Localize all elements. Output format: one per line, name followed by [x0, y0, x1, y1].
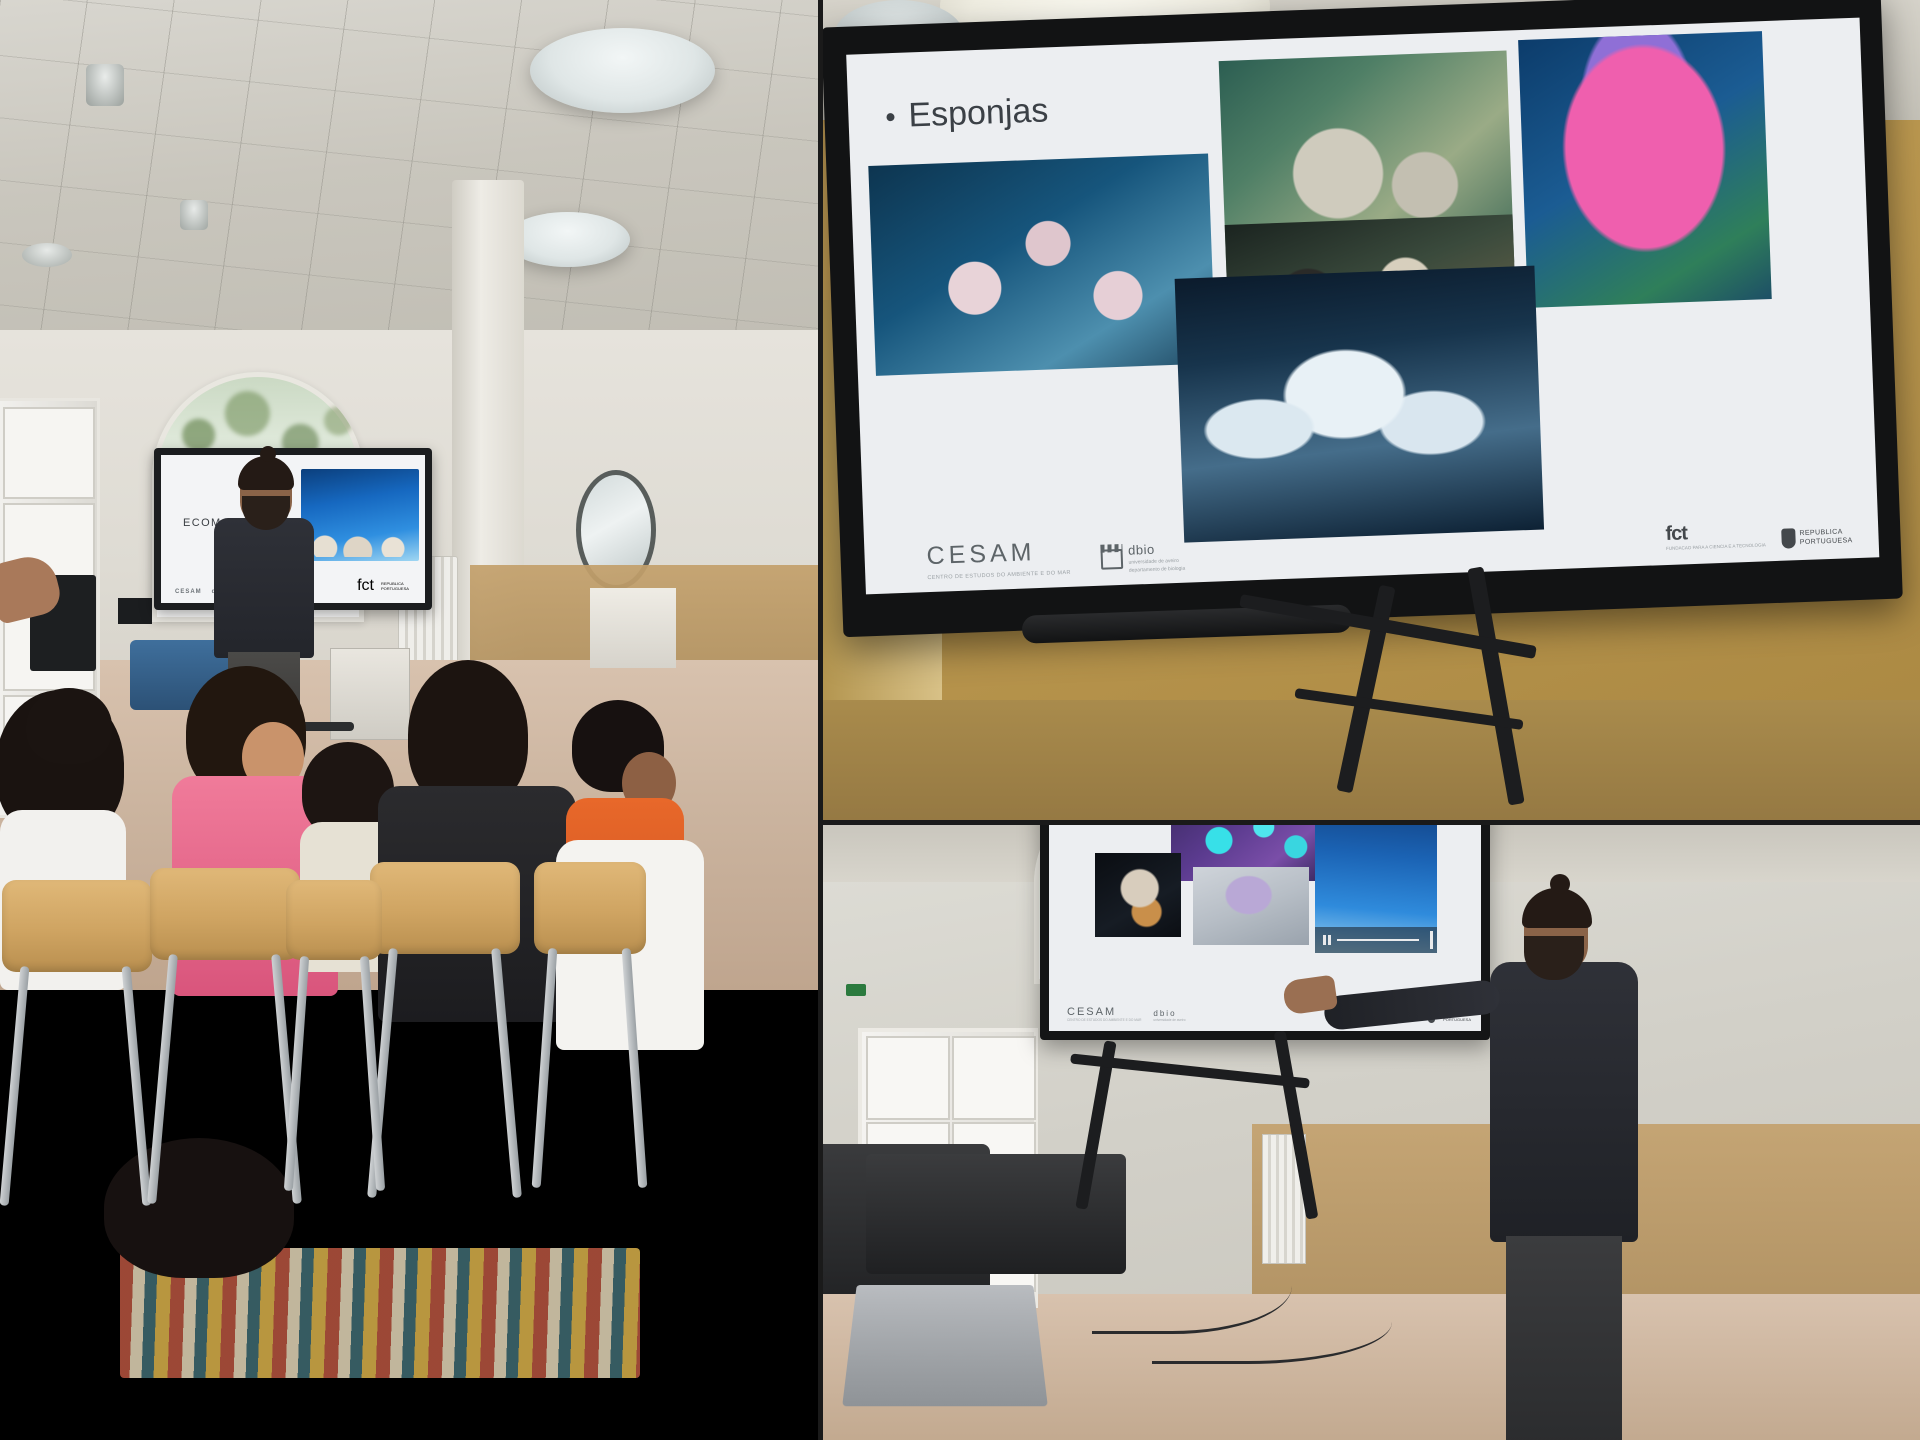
shield-icon	[1781, 528, 1796, 548]
video-controls[interactable]	[1315, 927, 1437, 953]
cesam-subtitle: CENTRO DE ESTUDOS DO AMBIENTE E DO MAR	[927, 569, 1071, 583]
slide-logos-left: CESAM CENTRO DE ESTUDOS DO AMBIENTE E DO…	[1067, 1006, 1185, 1023]
cesam-wordmark: CESAM	[926, 537, 1071, 571]
laptop	[842, 1285, 1048, 1406]
display-stand	[1090, 1040, 1450, 1220]
slide-logos-right: fct FUNDACAO PARA A CIENCIA E A TECNOLOG…	[1665, 516, 1853, 553]
dbio-logo: dbio universidade de aveiro departamento…	[1100, 540, 1186, 576]
seated-child	[104, 1138, 304, 1278]
slide-bullet-text: Esponjas	[908, 91, 1049, 135]
fct-logo: fct FUNDACAO PARA A CIENCIA E A TECNOLOG…	[1665, 520, 1766, 553]
ceiling-lamp	[530, 28, 715, 113]
slide-esponjas: Esponjas CESAM CENTRO DE ESTUDOS DO AMBI…	[846, 18, 1879, 595]
dbio-line2: departamento de biologia	[1129, 565, 1186, 575]
republica-portuguesa-logo: REPUBLICA PORTUGUESA	[1781, 526, 1853, 549]
classroom-chair	[534, 862, 646, 1077]
classroom-chair	[370, 862, 520, 1077]
cnidarian-image-man-o-war	[1193, 867, 1309, 945]
interactive-display[interactable]: Esponjas CESAM CENTRO DE ESTUDOS DO AMBI…	[822, 0, 1903, 637]
republica-portuguesa-logo: REPUBLICA PORTUGUESA	[381, 581, 415, 591]
ceiling-light-fixture	[22, 243, 72, 267]
sponge-image-pink-tube	[868, 154, 1215, 376]
cesam-logo: CESAM CENTRO DE ESTUDOS DO AMBIENTE E DO…	[926, 537, 1071, 582]
small-monitor	[118, 598, 152, 624]
presenter-pointing	[1482, 896, 1642, 1440]
classroom-chair	[286, 880, 382, 1095]
cnidarian-image-deep-sea	[1095, 853, 1181, 937]
slide-logos-right: fct REPUBLICA PORTUGUESA	[357, 577, 415, 595]
panel-divider	[822, 820, 1920, 825]
bullet-dot-icon	[886, 113, 894, 121]
pause-icon[interactable]	[1323, 935, 1331, 945]
tripod-stand	[1058, 584, 1758, 824]
dbio-logo: dbio	[1153, 1009, 1185, 1018]
cesam-logo: CESAM	[1067, 1006, 1141, 1018]
panel-classroom: ECOMARE CESAM dbio fct REPUBLICA PORTUGU…	[0, 0, 822, 1440]
cesam-logo: CESAM	[175, 589, 202, 595]
panel-cnidarians: Cnidarios CESAM CENTRO DE ESTUDOS DO AMB…	[822, 824, 1920, 1440]
classroom-chair	[150, 868, 300, 1083]
panel-sponges: Esponjas CESAM CENTRO DE ESTUDOS DO AMBI…	[822, 0, 1920, 824]
slide-bullet-esponjas: Esponjas	[886, 91, 1049, 136]
sponge-image-white-tube	[1175, 266, 1544, 543]
fct-logo: fct	[357, 577, 374, 595]
ceiling-light-fixture	[180, 200, 208, 230]
seated-child	[26, 688, 116, 848]
ceiling-light-fixture	[86, 64, 124, 106]
progress-bar[interactable]	[1337, 939, 1419, 941]
aquarium-photo	[301, 469, 419, 561]
slide-logos-left: CESAM CENTRO DE ESTUDOS DO AMBIENTE E DO…	[926, 532, 1185, 582]
classroom-chair	[2, 880, 152, 1095]
photo-collage: ECOMARE CESAM dbio fct REPUBLICA PORTUGU…	[0, 0, 1920, 1440]
republica-line2: PORTUGUESA	[1800, 536, 1853, 547]
volume-slider[interactable]	[1430, 931, 1433, 949]
dbio-wordmark: dbio	[1128, 542, 1155, 558]
panel-divider	[818, 0, 823, 1440]
exit-sign	[846, 984, 866, 996]
desk	[590, 588, 676, 668]
sponge-image-magenta-fan	[1518, 31, 1772, 308]
crown-icon	[1100, 548, 1123, 569]
